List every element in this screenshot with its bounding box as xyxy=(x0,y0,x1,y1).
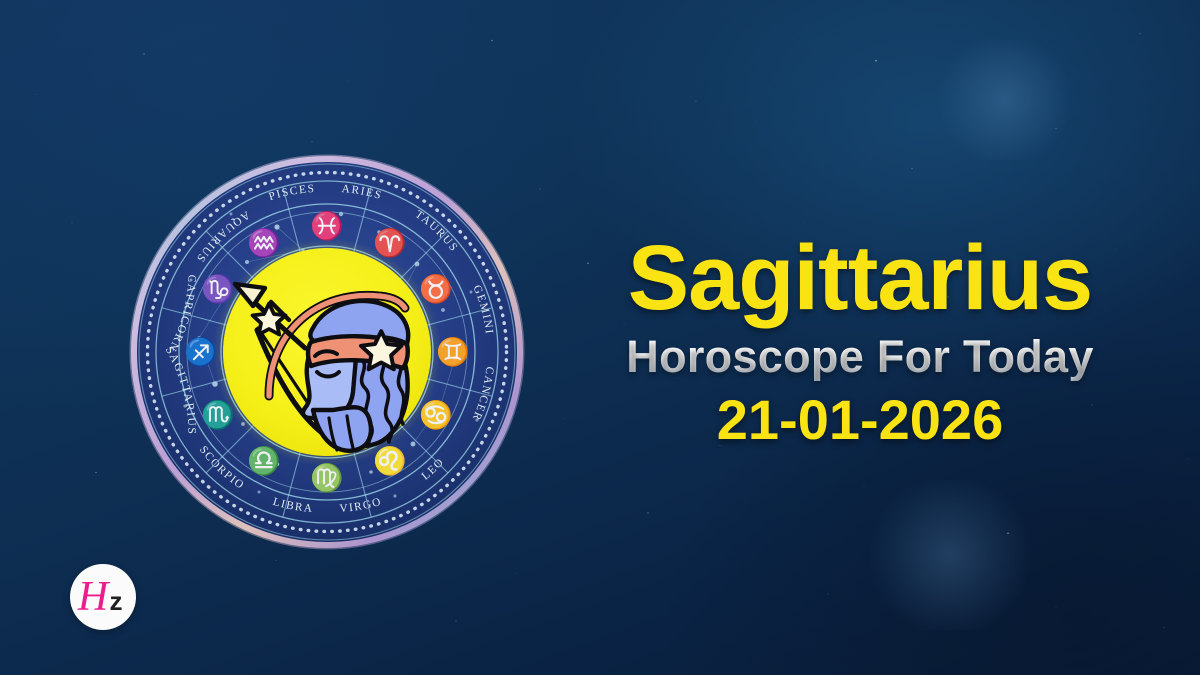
glyph-virgo: ♍ xyxy=(310,462,344,493)
nebula-glow-lower xyxy=(860,480,1040,630)
brand-logo[interactable]: H z xyxy=(70,564,136,630)
page-subtitle: Horoscope For Today xyxy=(560,332,1160,382)
glyph-gemini: ♊ xyxy=(436,336,470,367)
headline-block: Sagittarius Horoscope For Today 21-01-20… xyxy=(560,232,1160,450)
horoscope-banner: PISCES ARIES TAURUS GEMINI CANCER LEO VI… xyxy=(0,0,1200,675)
page-title: Sagittarius xyxy=(560,232,1160,326)
glyph-sagittarius: ♐ xyxy=(184,336,218,367)
logo-letter-h: H xyxy=(77,574,111,620)
nebula-glow-upper xyxy=(930,40,1080,160)
horoscope-date: 21-01-2026 xyxy=(560,391,1160,450)
zodiac-wheel: PISCES ARIES TAURUS GEMINI CANCER LEO VI… xyxy=(127,152,527,552)
glyph-pisces: ♓ xyxy=(310,210,344,241)
logo-letter-z: z xyxy=(110,586,123,616)
